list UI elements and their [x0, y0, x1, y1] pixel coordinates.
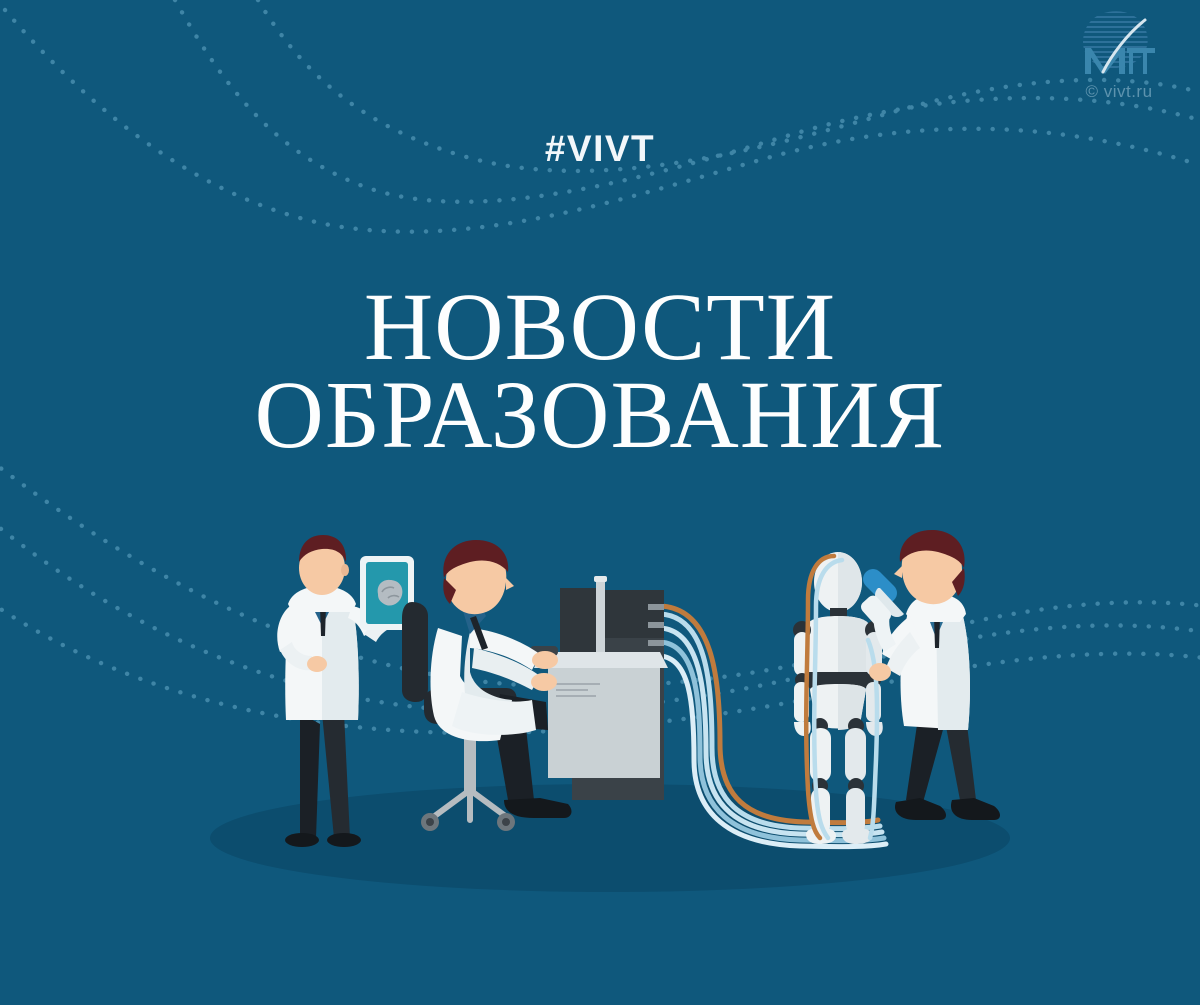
news-banner: #VIVT НОВОСТИ ОБРАЗОВАНИЯ — [0, 0, 1200, 1005]
title-line-1: НОВОСТИ — [0, 283, 1200, 371]
vivt-logo-icon — [1071, 8, 1167, 80]
figure-standing-doctor-right — [859, 530, 1000, 820]
page-title: НОВОСТИ ОБРАЗОВАНИЯ — [0, 283, 1200, 459]
hashtag-label: #VIVT — [0, 128, 1200, 170]
handheld-scanner — [859, 569, 904, 629]
title-line-2: ОБРАЗОВАНИЯ — [0, 371, 1200, 459]
copyright-text: © vivt.ru — [1054, 82, 1184, 102]
figure-humanoid-robot — [793, 552, 883, 844]
figure-standing-doctor-left — [277, 535, 414, 847]
brand-logo-block: © vivt.ru — [1054, 8, 1184, 102]
